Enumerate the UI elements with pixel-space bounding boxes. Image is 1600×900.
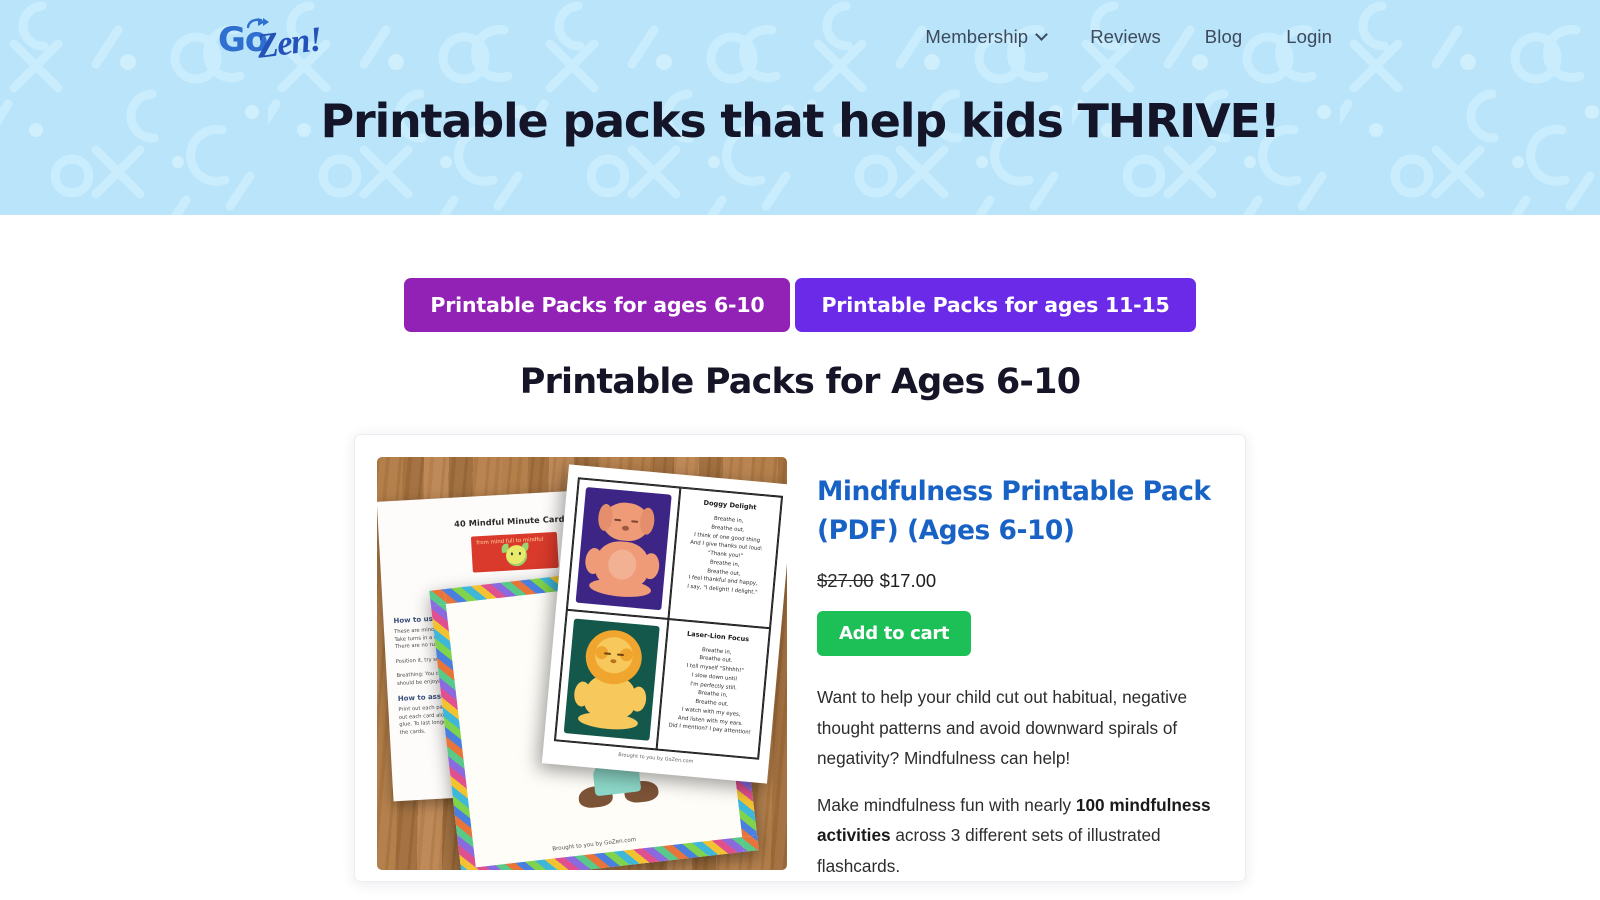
nav-item-blog[interactable]: Blog xyxy=(1205,26,1242,48)
flashcard-art-dog xyxy=(567,478,680,618)
flashcard-body-laser-lion-focus: Breathe in, Breathe out. I tell myself "… xyxy=(664,643,762,738)
tab-printable-packs-11-15[interactable]: Printable Packs for ages 11-15 xyxy=(795,278,1195,332)
tab-printable-packs-6-10[interactable]: Printable Packs for ages 6-10 xyxy=(404,278,790,332)
nav-item-login[interactable]: Login xyxy=(1286,26,1332,48)
flashcard-body-doggy-delight: Breathe in, Breathe out. I think of one … xyxy=(677,512,774,599)
product-title-link[interactable]: Mindfulness Printable Pack (PDF) (Ages 6… xyxy=(817,476,1211,546)
nav-item-membership-label: Membership xyxy=(925,26,1028,48)
doodle-sheet-credit: Brought to you by GoZen.com xyxy=(552,837,637,853)
gozen-logo[interactable]: Go Zen! xyxy=(218,16,326,62)
nav-item-membership[interactable]: Membership xyxy=(925,26,1046,48)
nav-item-reviews[interactable]: Reviews xyxy=(1090,26,1161,48)
product-card: 40 Mindful Minute Cards from mind full t… xyxy=(354,434,1246,882)
flashcards-grid: Doggy Delight Breathe in, Breathe out. I… xyxy=(554,477,783,760)
printable-sheet-flashcards: Doggy Delight Breathe in, Breathe out. I… xyxy=(542,464,787,783)
flashcard-art-lion xyxy=(555,609,668,749)
flashcard-text-dog: Doggy Delight Breathe in, Breathe out. I… xyxy=(668,488,781,628)
flashcard-title-laser-lion-focus: Laser-Lion Focus xyxy=(673,628,763,644)
product-description-2: Make mindfulness fun with nearly 100 min… xyxy=(817,790,1229,881)
monster-face-icon xyxy=(505,545,527,567)
product-info: Mindfulness Printable Pack (PDF) (Ages 6… xyxy=(817,457,1229,881)
chevron-down-icon xyxy=(1035,28,1048,41)
price-original: $27.00 xyxy=(817,570,874,591)
price-sale: $17.00 xyxy=(880,570,937,591)
flashcard-title-doggy-delight: Doggy Delight xyxy=(685,497,775,513)
nav-links: Membership Reviews Blog Login xyxy=(925,26,1332,48)
section-title: Printable Packs for Ages 6-10 xyxy=(0,362,1600,402)
product-description-2-pre: Make mindfulness fun with nearly xyxy=(817,795,1076,815)
sheet-back-red-card: from mind full to mindful xyxy=(471,532,559,573)
add-to-cart-button[interactable]: Add to cart xyxy=(817,611,971,656)
age-range-tabs: Printable Packs for ages 6-10 Printable … xyxy=(0,278,1600,332)
sheet-back-red-card-text: from mind full to mindful xyxy=(476,537,543,547)
main-content: Printable Packs for ages 6-10 Printable … xyxy=(0,278,1600,882)
flashcard-text-lion: Laser-Lion Focus Breathe in, Breathe out… xyxy=(657,619,770,759)
price-row: $27.00$17.00 xyxy=(817,570,1229,592)
hero-title: Printable packs that help kids THRIVE! xyxy=(0,94,1600,148)
product-image[interactable]: 40 Mindful Minute Cards from mind full t… xyxy=(377,457,787,870)
dog-head-icon xyxy=(602,500,651,542)
product-description-1: Want to help your child cut out habitual… xyxy=(817,682,1229,773)
logo-zen-text: Zen! xyxy=(255,21,323,64)
navigation-bar: Go Zen! Membership Reviews Blog Login xyxy=(0,0,1600,62)
hero-section: Go Zen! Membership Reviews Blog Login Pr… xyxy=(0,0,1600,215)
